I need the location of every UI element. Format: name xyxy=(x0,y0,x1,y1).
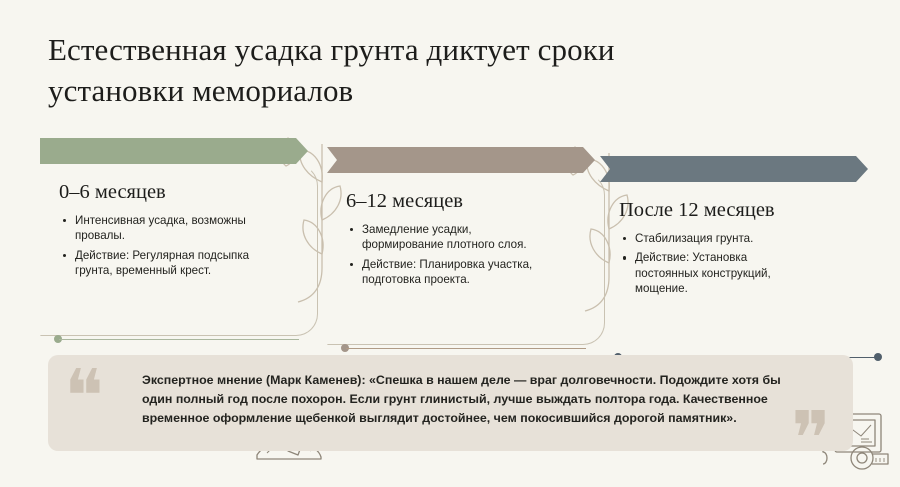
list-item: Действие: Регулярная подсыпка грунта, вр… xyxy=(61,248,251,279)
timeline-connector xyxy=(341,344,591,353)
card-points-list: Стабилизация грунта. Действие: Установка… xyxy=(621,231,863,297)
timeline-rule xyxy=(346,348,586,350)
expert-quote-box: ❝ ❞ Экспертное мнение (Марк Каменев): «С… xyxy=(48,355,853,451)
timeline-card-0-6-months[interactable]: 0–6 месяцев Интенсивная усадка, возможны… xyxy=(40,138,318,336)
quote-text: Экспертное мнение (Марк Каменев): «Спешк… xyxy=(142,371,792,429)
list-item: Действие: Установка постоянных конструкц… xyxy=(621,250,811,296)
timeline-card-deck: 0–6 месяцев Интенсивная усадка, возможны… xyxy=(0,0,900,340)
card-heading: 0–6 месяцев xyxy=(59,181,303,204)
timeline-card-after-12-months[interactable]: После 12 месяцев Стабилизация грунта. Де… xyxy=(600,156,878,354)
card-banner xyxy=(327,147,595,173)
card-heading: После 12 месяцев xyxy=(619,199,863,222)
quote-open-mark-icon: ❝ xyxy=(64,361,104,435)
card-banner xyxy=(600,156,868,182)
list-item: Стабилизация грунта. xyxy=(621,231,811,246)
list-item: Интенсивная усадка, возможны провалы. xyxy=(61,213,251,244)
timeline-connector xyxy=(54,335,304,344)
card-body: После 12 месяцев Стабилизация грунта. Де… xyxy=(600,182,878,354)
list-item: Действие: Планировка участка, подготовка… xyxy=(348,257,538,288)
card-points-list: Замедление усадки, формирование плотного… xyxy=(348,222,590,288)
timeline-card-6-12-months[interactable]: 6–12 месяцев Замедление усадки, формиров… xyxy=(327,147,605,345)
list-item: Замедление усадки, формирование плотного… xyxy=(348,222,538,253)
quote-close-mark-icon: ❞ xyxy=(791,403,831,477)
card-body: 0–6 месяцев Интенсивная усадка, возможны… xyxy=(40,164,318,336)
card-heading: 6–12 месяцев xyxy=(346,190,590,213)
card-body: 6–12 месяцев Замедление усадки, формиров… xyxy=(327,173,605,345)
timeline-rule xyxy=(59,339,299,341)
card-points-list: Интенсивная усадка, возможны провалы. Де… xyxy=(61,213,303,279)
card-banner xyxy=(40,138,308,164)
timeline-dot xyxy=(874,353,882,361)
